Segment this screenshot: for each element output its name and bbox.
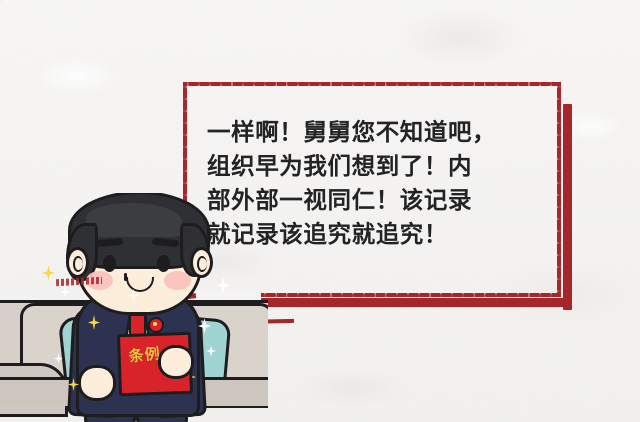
eye-left [103,255,116,272]
sparkle-icon-1 [42,265,55,281]
speech-line-2: 组织早为我们想到了！内 [207,149,547,183]
lapel-pin-center [153,322,157,326]
sparkle-icon-9 [128,289,139,302]
ear-right [190,247,213,278]
ear-inner-right [197,256,207,272]
lapel-pin-icon [148,317,164,333]
ear-inner-left [73,256,83,272]
sparkle-icon-10 [216,277,230,294]
sparkle-icon-6 [206,345,216,357]
sparkle-icon-4 [68,378,79,391]
sparkle-icon-8 [60,286,70,298]
speech-line-1: 一样啊！舅舅您不知道吧， [207,115,547,149]
bubble-shadow-right [563,104,572,310]
sparkle-icon-3 [54,353,63,364]
ear-left [66,247,89,278]
eye-right [157,255,170,272]
hair-highlight [86,203,182,237]
sparkle-icon-5 [198,318,211,334]
cheek-blush-right [164,271,191,290]
hand-right [158,345,194,379]
scene-root: 一样啊！舅舅您不知道吧， 组织早为我们想到了！内 部外部一视同仁！该记录 就记录… [0,0,640,422]
sparkle-icon-2 [88,315,100,330]
character-illustration-panel: 条例 [0,193,268,422]
hand-left [78,365,116,401]
